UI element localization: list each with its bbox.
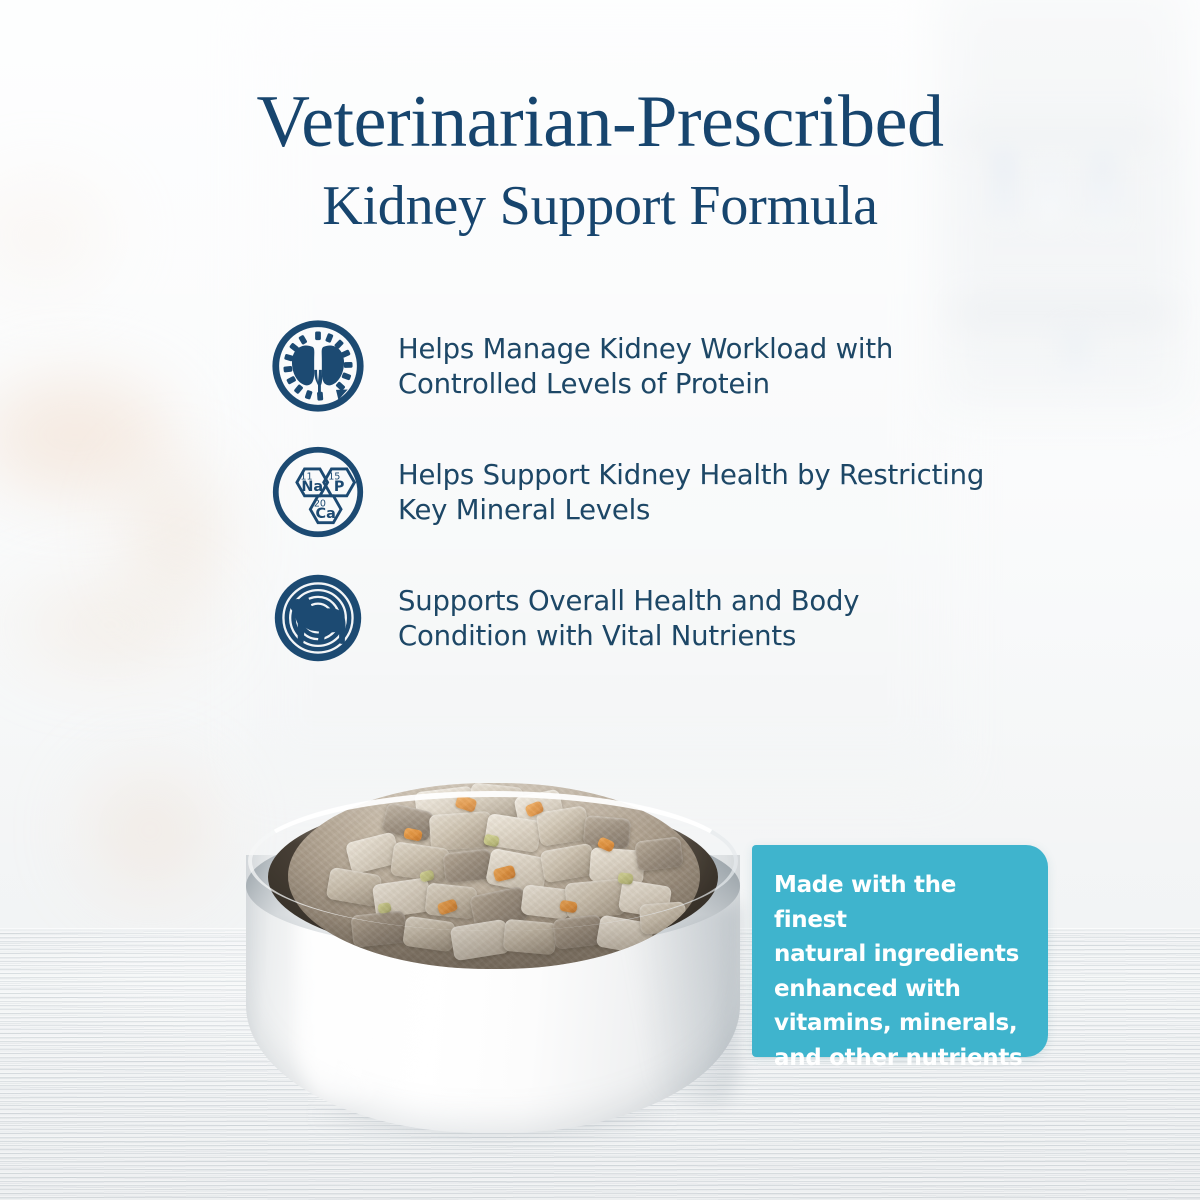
benefit-item-kidney-workload: Helps Manage Kidney Workload with Contro… (270, 318, 990, 414)
minerals-hexagon-icon: 11 Na 15 P 20 Ca (270, 444, 366, 540)
ingredients-callout-text: Made with the finest natural ingredients… (774, 868, 1032, 1075)
headline-line-2: Kidney Support Formula (0, 174, 1200, 238)
dog-icon (270, 570, 366, 666)
wet-dog-food (288, 783, 700, 969)
headline: Veterinarian-Prescribed Kidney Support F… (0, 82, 1200, 238)
product-marketing-image: Veterinarian-Prescribed Kidney Support F… (0, 0, 1200, 1200)
svg-text:Ca: Ca (316, 506, 336, 522)
benefit-text-mineral-levels: Helps Support Kidney Health by Restricti… (398, 456, 990, 528)
benefit-item-overall-health: Supports Overall Health and Body Conditi… (270, 570, 990, 666)
benefit-text-overall-health: Supports Overall Health and Body Conditi… (398, 582, 990, 654)
svg-text:Na: Na (301, 479, 323, 495)
benefit-text-kidney-workload: Helps Manage Kidney Workload with Contro… (398, 330, 990, 402)
svg-text:P: P (334, 479, 345, 495)
headline-line-1: Veterinarian-Prescribed (0, 82, 1200, 162)
ingredients-callout-box: Made with the finest natural ingredients… (752, 845, 1048, 1057)
benefit-item-mineral-levels: 11 Na 15 P 20 Ca Helps Support Kidney He… (270, 444, 990, 540)
benefit-list: Helps Manage Kidney Workload with Contro… (270, 318, 990, 666)
food-shading (288, 783, 700, 969)
kidney-icon (270, 318, 366, 414)
dog-bowl (228, 735, 758, 1155)
